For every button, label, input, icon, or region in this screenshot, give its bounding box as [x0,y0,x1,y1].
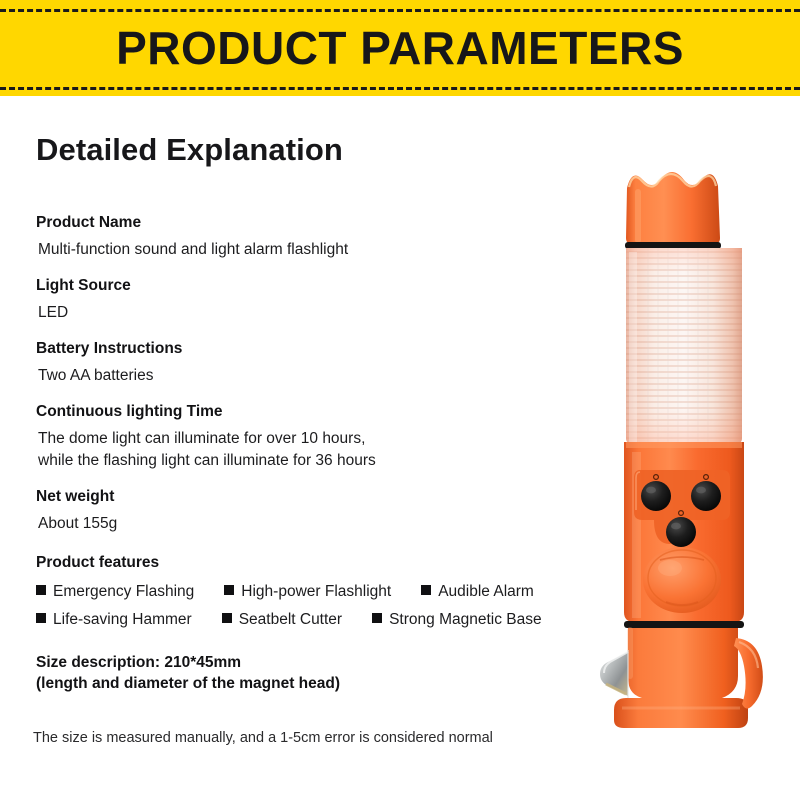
spec-value: LED [36,302,606,324]
bullet-square-icon [372,613,382,623]
spec-value: About 155g [36,513,606,535]
feature-row: Emergency Flashing High-power Flashlight… [36,580,636,604]
spec-label: Product Name [36,212,606,234]
product-features-block: Product features Emergency Flashing High… [36,552,636,636]
spec-label: Continuous lighting Time [36,401,606,423]
beacon-button-icon [691,481,721,511]
bullet-square-icon [224,585,234,595]
bullet-square-icon [222,613,232,623]
bullet-square-icon [36,585,46,595]
light-button-icon [641,481,671,511]
feature-item: Emergency Flashing [36,580,194,604]
feature-label: Audible Alarm [438,580,534,604]
feature-item: Seatbelt Cutter [222,608,342,632]
spec-value: Two AA batteries [36,365,606,387]
header-banner: PRODUCT PARAMETERS [0,0,800,96]
feature-item: Life-saving Hammer [36,608,192,632]
measurement-disclaimer: The size is measured manually, and a 1-5… [33,728,493,748]
feature-item: Strong Magnetic Base [372,608,542,632]
spec-label: Battery Instructions [36,338,606,360]
alarm-button-icon [666,517,696,547]
feature-label: Strong Magnetic Base [389,608,542,632]
feature-label: High-power Flashlight [241,580,391,604]
feature-item: High-power Flashlight [224,580,391,604]
flashlight-body [624,442,744,622]
product-parameters-page: PRODUCT PARAMETERS Detailed Explanation … [0,0,800,800]
feature-label: Emergency Flashing [53,580,194,604]
spec-row-net-weight: Net weight About 155g [36,486,606,535]
product-image-flashlight [596,160,800,730]
cap-oring [625,242,721,249]
body-oring [624,621,744,628]
banner-dashed-line-bottom [0,87,800,90]
banner-dashed-line-top [0,9,800,12]
flashlight-lens [624,246,748,448]
flashlight-base [600,628,763,728]
page-title: PRODUCT PARAMETERS [0,19,800,77]
spec-label: Light Source [36,275,606,297]
feature-row: Life-saving Hammer Seatbelt Cutter Stron… [36,608,636,632]
size-description: Size description: 210*45mm (length and d… [36,652,340,694]
spec-value: The dome light can illuminate for over 1… [36,428,606,472]
bullet-square-icon [421,585,431,595]
hammer-tip-icon [600,650,628,698]
feature-item: Audible Alarm [421,580,534,604]
spec-row-battery-instructions: Battery Instructions Two AA batteries [36,338,606,387]
spec-label: Net weight [36,486,606,508]
specification-list: Product Name Multi-function sound and li… [36,212,606,549]
feature-label: Life-saving Hammer [53,608,192,632]
bullet-square-icon [36,613,46,623]
spec-value: Multi-function sound and light alarm fla… [36,239,606,261]
speaker-disc [643,547,721,613]
spec-row-continuous-lighting-time: Continuous lighting Time The dome light … [36,401,606,472]
spec-row-light-source: Light Source LED [36,275,606,324]
section-heading: Detailed Explanation [36,132,343,168]
spec-row-product-name: Product Name Multi-function sound and li… [36,212,606,261]
product-features-label: Product features [36,552,636,574]
feature-label: Seatbelt Cutter [239,608,342,632]
flashlight-top-cap [626,172,720,244]
